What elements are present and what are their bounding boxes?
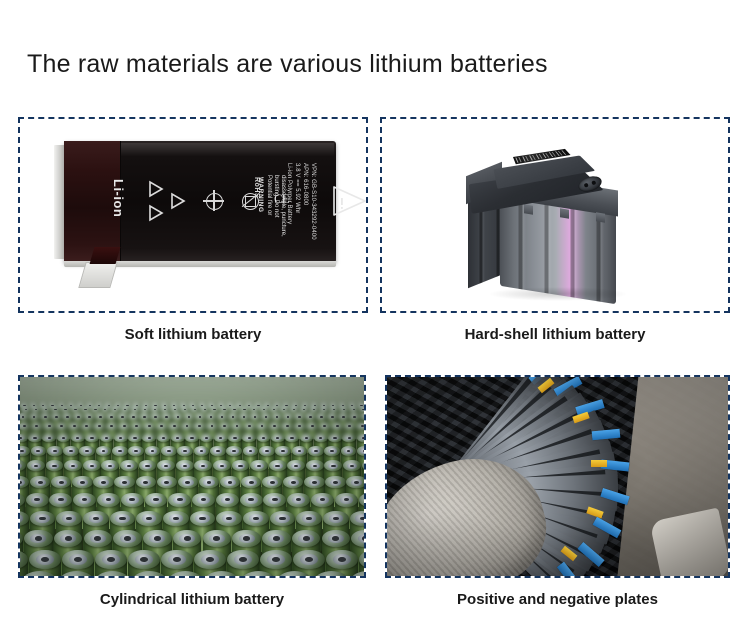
photo-cylindrical-lithium-battery bbox=[20, 377, 364, 576]
cylindrical-cells-stage bbox=[20, 377, 364, 576]
spec-line-4: VPN: GB-S10-343292-0400 bbox=[310, 163, 316, 240]
caption-cylindrical-lithium-battery: Cylindrical lithium battery bbox=[18, 591, 366, 608]
panel-positive-and-negative-plates bbox=[385, 375, 730, 578]
pouch-cell-body: Li-ion RoHS CE L bbox=[64, 141, 336, 263]
photo-positive-and-negative-plates bbox=[387, 377, 728, 576]
pack-clip-3 bbox=[596, 212, 605, 222]
li-ion-label: Li-ion bbox=[111, 179, 126, 217]
warning-triangle-icon bbox=[332, 185, 366, 215]
spec-line-3: APN: 616-0800 bbox=[302, 163, 308, 205]
pouch-sheen bbox=[121, 143, 334, 157]
panel-hard-shell-lithium-battery bbox=[380, 117, 730, 313]
photo-vignette bbox=[387, 377, 728, 576]
plates-stage bbox=[387, 377, 728, 576]
caption-soft-lithium-battery: Soft lithium battery bbox=[18, 326, 368, 343]
panel-soft-lithium-battery: Li-ion RoHS CE L bbox=[18, 117, 368, 313]
pack-clip-1 bbox=[524, 204, 533, 214]
pouch-tab-dark bbox=[90, 247, 121, 264]
warning-line-3: disassemble, puncture, bbox=[280, 175, 286, 237]
pack-clip-2 bbox=[560, 208, 569, 218]
spec-line-1: Li-ion Polymer Battery bbox=[286, 163, 292, 224]
page-title: The raw materials are various lithium ba… bbox=[27, 50, 548, 79]
poster-page: The raw materials are various lithium ba… bbox=[0, 0, 750, 636]
warning-line-1: Potential fire or bbox=[266, 175, 272, 215]
no-disposal-icon bbox=[206, 193, 223, 210]
photo-soft-lithium-battery: Li-ion RoHS CE L bbox=[20, 119, 366, 311]
hard-shell-stage bbox=[382, 119, 728, 311]
recycle-icon bbox=[142, 173, 188, 229]
warning-heading: WARNING bbox=[257, 177, 264, 213]
spec-line-2: 3.8 V == 5.92 Whr bbox=[294, 163, 300, 213]
photo-hard-shell-lithium-battery bbox=[382, 119, 728, 311]
caption-positive-and-negative-plates: Positive and negative plates bbox=[385, 591, 730, 608]
warning-line-2: bursting. Do not bbox=[273, 175, 279, 217]
pouch-tab-foil bbox=[78, 262, 117, 288]
panel-cylindrical-lithium-battery bbox=[18, 375, 366, 578]
hard-shell-pack bbox=[460, 137, 660, 299]
caption-hard-shell-lithium-battery: Hard-shell lithium battery bbox=[380, 326, 730, 343]
soft-battery-stage: Li-ion RoHS CE L bbox=[20, 119, 366, 311]
photo-vignette bbox=[20, 377, 364, 576]
pack-shadow bbox=[488, 287, 628, 301]
